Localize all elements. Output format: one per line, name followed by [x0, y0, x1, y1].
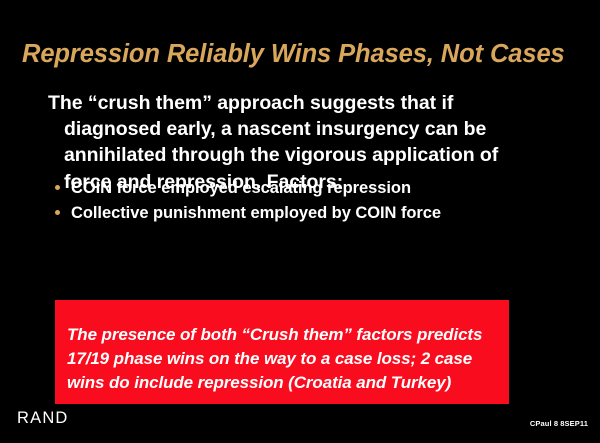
page-title: Repression Reliably Wins Phases, Not Cas…: [22, 41, 588, 68]
list-item: Collective punishment employed by COIN f…: [55, 201, 545, 226]
list-item-label: COIN force employed escalating repressio…: [71, 179, 411, 197]
callout-text: The presence of both “Crush them” factor…: [67, 323, 499, 395]
list-item: COIN force employed escalating repressio…: [55, 176, 545, 201]
bullet-dot-icon: [55, 210, 60, 215]
bullet-dot-icon: [55, 185, 60, 190]
callout-box: The presence of both “Crush them” factor…: [55, 300, 509, 404]
slide-canvas: Repression Reliably Wins Phases, Not Cas…: [0, 0, 600, 443]
rand-logo: RAND: [17, 409, 69, 428]
list-item-label: Collective punishment employed by COIN f…: [71, 204, 441, 222]
footer-meta-label: CPaul 8 8SEP11: [530, 419, 588, 428]
factors-bullet-list: COIN force employed escalating repressio…: [55, 176, 545, 226]
